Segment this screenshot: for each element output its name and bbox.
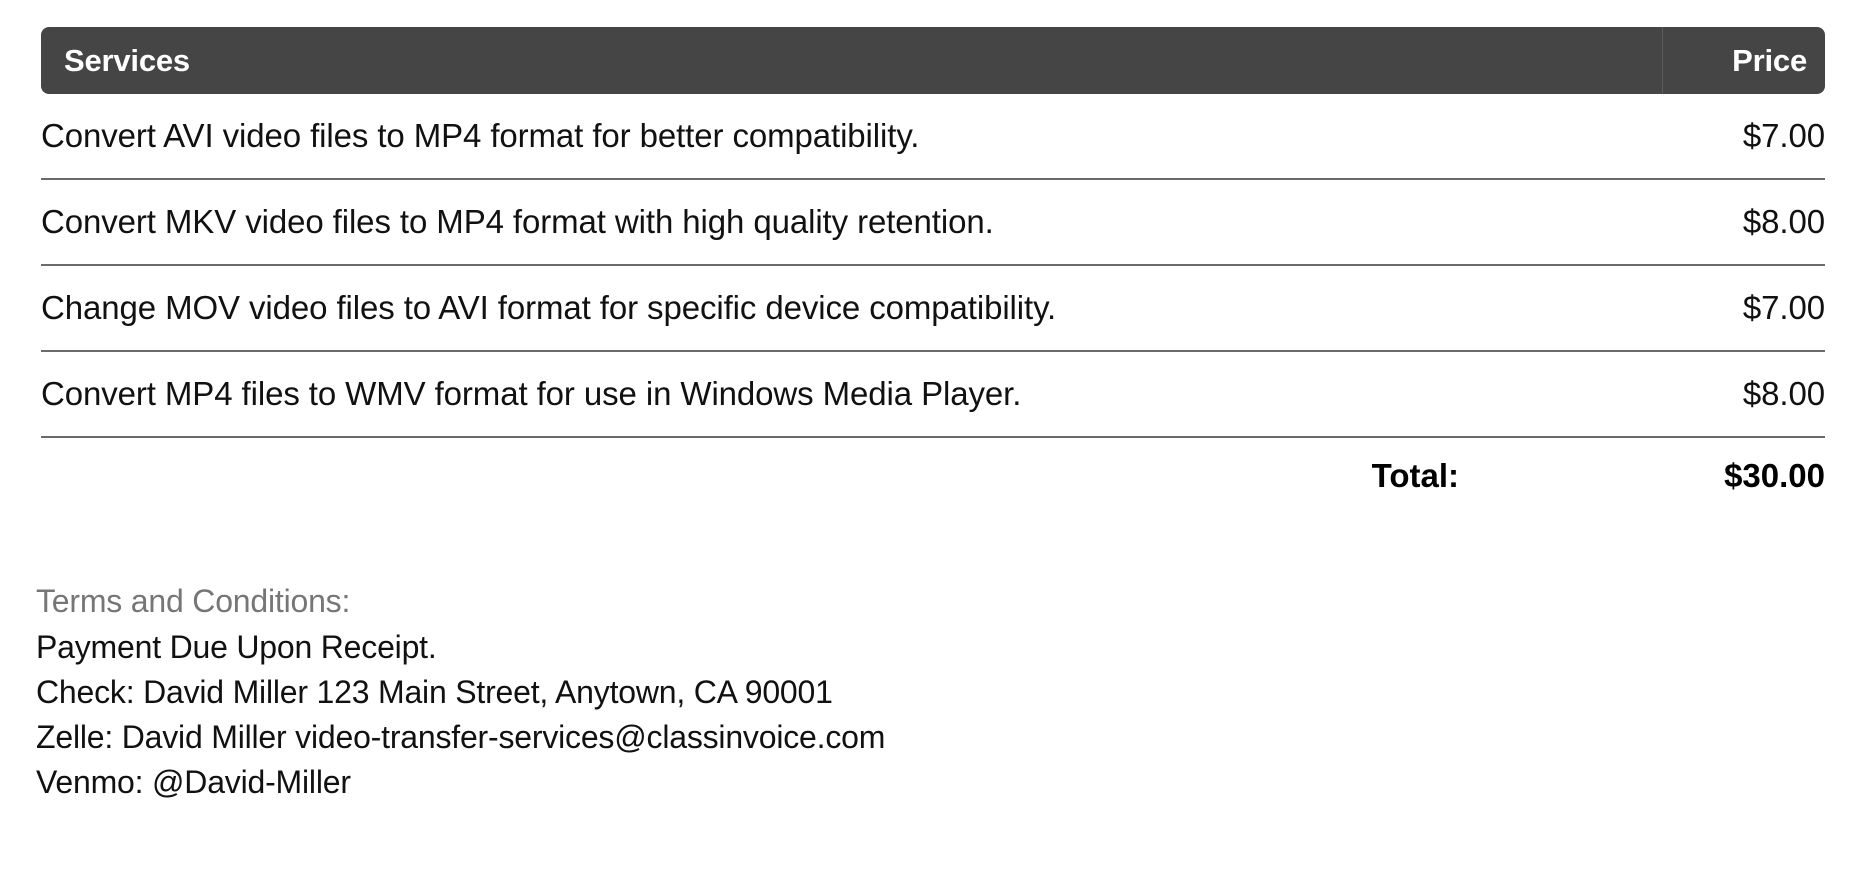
invoice-document: Services Price Convert AVI video files t… <box>0 0 1868 870</box>
column-header-price: Price <box>1663 27 1825 94</box>
column-header-services: Services <box>41 27 1663 94</box>
service-price: $8.00 <box>1525 375 1825 413</box>
table-row: Change MOV video files to AVI format for… <box>41 266 1825 352</box>
terms-line-payment: Payment Due Upon Receipt. <box>36 625 1736 670</box>
service-price: $7.00 <box>1525 289 1825 327</box>
table-row: Convert MKV video files to MP4 format wi… <box>41 180 1825 266</box>
terms-title: Terms and Conditions: <box>36 578 1736 625</box>
service-description: Change MOV video files to AVI format for… <box>41 289 1525 327</box>
table-row: Convert MP4 files to WMV format for use … <box>41 352 1825 438</box>
services-table: Services Price Convert AVI video files t… <box>41 27 1825 514</box>
terms-and-conditions-section: Terms and Conditions: Payment Due Upon R… <box>36 578 1736 805</box>
terms-line-zelle: Zelle: David Miller video-transfer-servi… <box>36 715 1736 760</box>
terms-line-check: Check: David Miller 123 Main Street, Any… <box>36 670 1736 715</box>
total-row: Total: $30.00 <box>41 438 1825 514</box>
service-description: Convert MP4 files to WMV format for use … <box>41 375 1525 413</box>
total-label: Total: <box>1372 457 1555 495</box>
service-description: Convert AVI video files to MP4 format fo… <box>41 117 1525 155</box>
table-header-row: Services Price <box>41 27 1825 94</box>
table-row: Convert AVI video files to MP4 format fo… <box>41 94 1825 180</box>
service-price: $7.00 <box>1525 117 1825 155</box>
service-price: $8.00 <box>1525 203 1825 241</box>
terms-line-venmo: Venmo: @David-Miller <box>36 760 1736 805</box>
service-description: Convert MKV video files to MP4 format wi… <box>41 203 1525 241</box>
total-value: $30.00 <box>1555 457 1825 495</box>
